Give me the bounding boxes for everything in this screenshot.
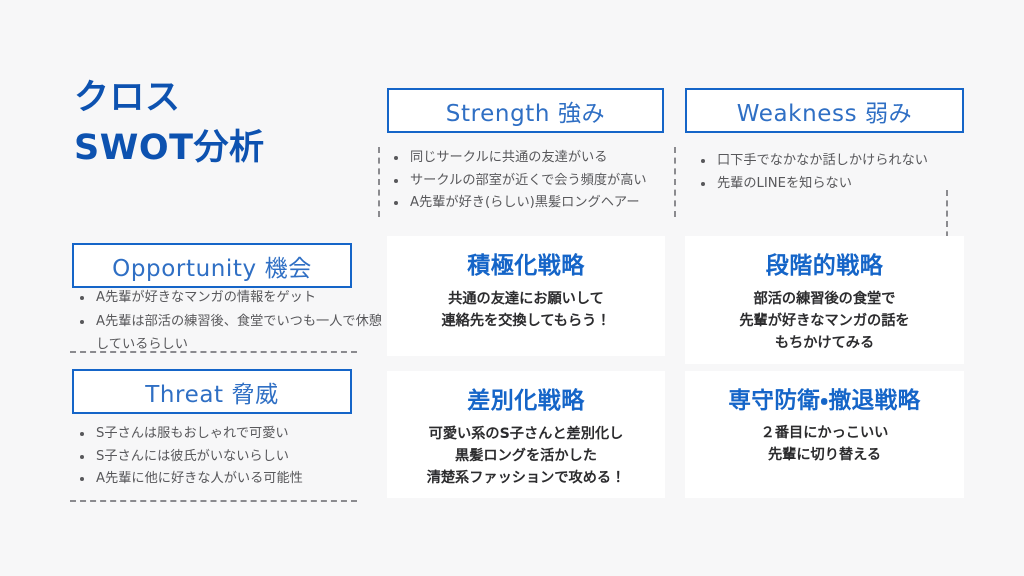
swot-slide: クロス SWOT分析 Strength 強み Weakness 弱み Oppor… [0, 0, 1024, 576]
page-title-line-1: クロス [74, 74, 364, 124]
strategy-card-aggressive: 積極化戦略 共通の友達にお願いして 連絡先を交換してもらう！ [387, 236, 665, 356]
strategy-body-line: もちかけてみる [739, 332, 909, 354]
strategy-body-line: 清楚系ファッションで攻める！ [427, 467, 626, 489]
page-title-line-2: SWOT分析 [74, 124, 364, 174]
list-item: A先輩は部活の練習後、食堂でいつも一人で休憩しているらしい [94, 310, 384, 357]
list-item: S子さんは服もおしゃれで可愛い [94, 423, 384, 446]
header-weakness: Weakness 弱み [685, 88, 964, 133]
list-strength: 同じサークルに共通の友達がいる サークルの部室が近くで会う頻度が高い A先輩が好… [388, 147, 676, 215]
strategy-body-line: ２番目にかっこいい [761, 422, 889, 444]
list-weakness: 口下手でなかなか話しかけられない 先輩のLINEを知らない [695, 150, 983, 195]
list-item: 先輩のLINEを知らない [715, 173, 983, 196]
header-opportunity: Opportunity 機会 [72, 243, 352, 288]
header-strength-label: Strength 強み [446, 94, 605, 128]
strategy-card-stepwise: 段階的戦略 部活の練習後の食堂で 先輩が好きなマンガの話を もちかけてみる [685, 236, 964, 364]
list-item: 同じサークルに共通の友達がいる [408, 147, 676, 170]
strategy-body-defensive: ２番目にかっこいい 先輩に切り替える [761, 422, 889, 466]
dashed-divider-strength-left [378, 147, 380, 217]
strategy-body-aggressive: 共通の友達にお願いして 連絡先を交換してもらう！ [441, 288, 610, 332]
strategy-card-differentiation: 差別化戦略 可愛い系のS子さんと差別化し 黒髪ロングを活かした 清楚系ファッショ… [387, 371, 665, 498]
strategy-body-line: 可愛い系のS子さんと差別化し [427, 423, 626, 445]
header-strength: Strength 強み [387, 88, 664, 133]
strategy-body-line: 先輩に切り替える [761, 444, 889, 466]
strategy-body-line: 先輩が好きなマンガの話を [739, 310, 909, 332]
header-threat: Threat 脅威 [72, 369, 352, 414]
header-weakness-label: Weakness 弱み [737, 94, 913, 128]
list-item: A先輩が好きなマンガの情報をゲット [94, 286, 384, 310]
list-item: 口下手でなかなか話しかけられない [715, 150, 983, 173]
strategy-title-stepwise: 段階的戦略 [766, 252, 884, 281]
strategy-title-differentiation: 差別化戦略 [467, 387, 585, 416]
strategy-title-aggressive: 積極化戦略 [467, 252, 585, 281]
list-item: A先輩が好き(らしい)黒髪ロングヘアー [408, 192, 676, 215]
header-threat-label: Threat 脅威 [145, 375, 279, 409]
list-item: サークルの部室が近くで会う頻度が高い [408, 170, 676, 193]
list-threat: S子さんは服もおしゃれで可愛い S子さんには彼氏がいないらしい A先輩に他に好き… [74, 423, 384, 491]
strategy-body-line: 連絡先を交換してもらう！ [441, 310, 610, 332]
strategy-body-line: 部活の練習後の食堂で [739, 288, 909, 310]
list-item: A先輩に他に好きな人がいる可能性 [94, 468, 384, 491]
strategy-body-stepwise: 部活の練習後の食堂で 先輩が好きなマンガの話を もちかけてみる [739, 288, 909, 354]
page-title: クロス SWOT分析 [74, 74, 364, 173]
strategy-body-differentiation: 可愛い系のS子さんと差別化し 黒髪ロングを活かした 清楚系ファッションで攻める！ [427, 423, 626, 489]
header-opportunity-label: Opportunity 機会 [112, 249, 312, 283]
list-opportunity: A先輩が好きなマンガの情報をゲット A先輩は部活の練習後、食堂でいつも一人で休憩… [74, 286, 384, 357]
list-item: S子さんには彼氏がいないらしい [94, 446, 384, 469]
strategy-body-line: 共通の友達にお願いして [441, 288, 610, 310]
dashed-divider-threat-bottom [70, 500, 357, 502]
strategy-card-defensive: 専守防衛・撤退戦略 ２番目にかっこいい 先輩に切り替える [685, 371, 964, 498]
strategy-body-line: 黒髪ロングを活かした [427, 445, 626, 467]
strategy-title-defensive: 専守防衛・撤退戦略 [728, 387, 920, 415]
